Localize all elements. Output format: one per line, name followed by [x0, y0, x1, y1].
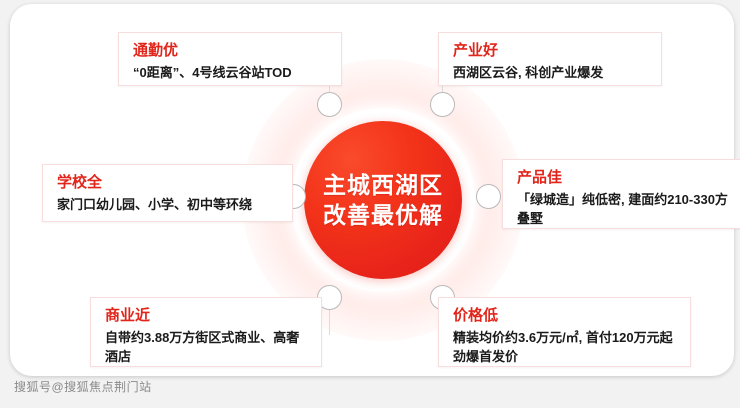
feature-box-industry: 产业好 西湖区云谷, 科创产业爆发	[438, 32, 662, 86]
infographic-screen: 主城西湖区 改善最优解 通勤优 “0距离”、4号线云谷站TOD 产业好 西湖区云…	[0, 0, 740, 408]
feature-desc-schools: 家门口幼儿园、小学、初中等环绕	[57, 195, 280, 214]
feature-box-commute: 通勤优 “0距离”、4号线云谷站TOD	[118, 32, 342, 86]
feature-box-price: 价格低 精装均价约3.6万元/㎡, 首付120万元起劲爆首发价	[438, 297, 691, 367]
feature-desc-commute: “0距离”、4号线云谷站TOD	[133, 63, 329, 82]
connector-node-middle-right	[476, 184, 501, 209]
feature-box-product: 产品佳 「绿城造」纯低密, 建面约210-330方叠墅	[502, 159, 740, 229]
feature-title-commute: 通勤优	[133, 41, 329, 61]
center-circle: 主城西湖区 改善最优解	[304, 121, 462, 279]
feature-title-product: 产品佳	[517, 168, 730, 188]
connector-node-top-right	[430, 92, 455, 117]
feature-desc-commerce: 自带约3.88万方街区式商业、高奢酒店	[105, 328, 309, 366]
feature-title-price: 价格低	[453, 306, 678, 326]
center-title-line2: 改善最优解	[323, 200, 443, 230]
feature-desc-product: 「绿城造」纯低密, 建面约210-330方叠墅	[517, 190, 730, 228]
feature-box-schools: 学校全 家门口幼儿园、小学、初中等环绕	[42, 164, 293, 222]
feature-box-commerce: 商业近 自带约3.88万方街区式商业、高奢酒店	[90, 297, 322, 367]
watermark: 搜狐号@搜狐焦点荆门站	[14, 378, 152, 395]
infographic-card: 主城西湖区 改善最优解 通勤优 “0距离”、4号线云谷站TOD 产业好 西湖区云…	[10, 4, 734, 376]
feature-desc-industry: 西湖区云谷, 科创产业爆发	[453, 63, 649, 82]
feature-desc-price: 精装均价约3.6万元/㎡, 首付120万元起劲爆首发价	[453, 328, 678, 366]
feature-title-industry: 产业好	[453, 41, 649, 61]
center-title-line1: 主城西湖区	[323, 170, 443, 200]
connector-node-top-left	[317, 92, 342, 117]
feature-title-commerce: 商业近	[105, 306, 309, 326]
connector-line-bottom-left	[329, 309, 330, 335]
feature-title-schools: 学校全	[57, 173, 280, 193]
